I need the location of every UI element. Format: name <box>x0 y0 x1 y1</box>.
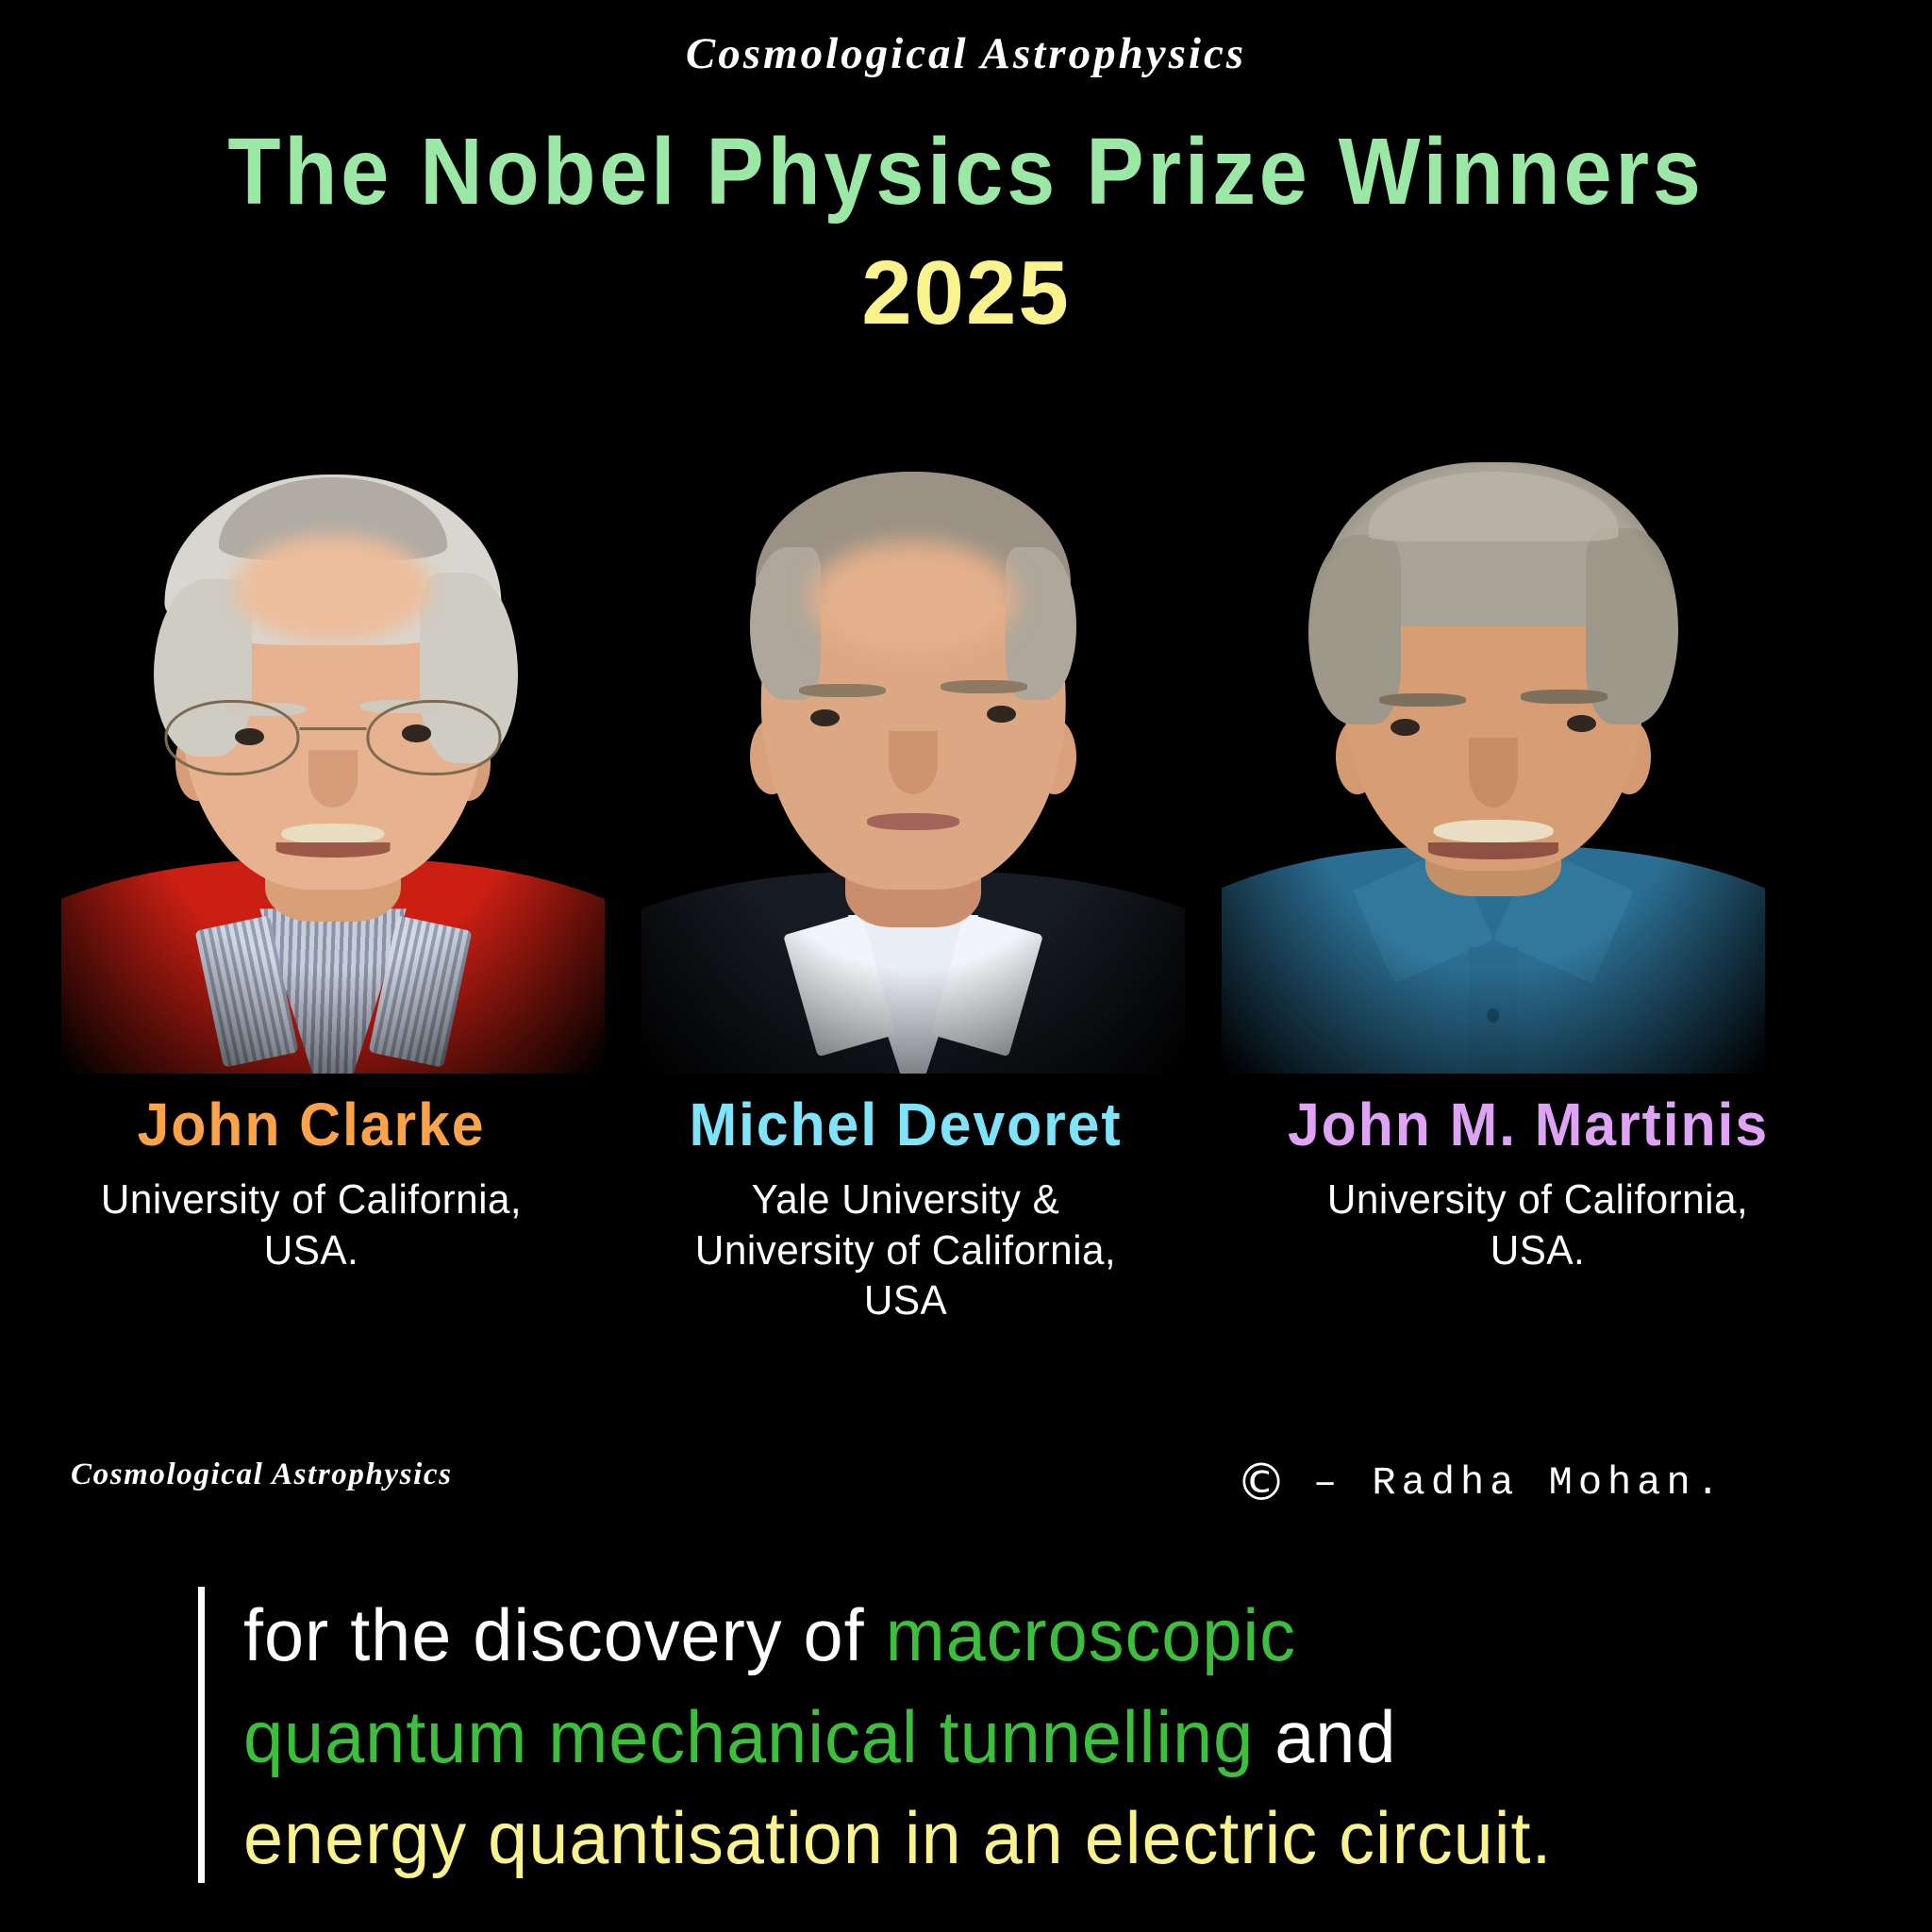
portrait-john-clarke <box>61 440 605 1074</box>
poster-canvas: Cosmological Astrophysics The Nobel Phys… <box>0 0 1932 1932</box>
citation-line-2: quantum mechanical tunnelling and <box>243 1687 1846 1789</box>
citation-line-3: energy quantisation in an electric circu… <box>243 1788 1846 1890</box>
laureate-name-0: John Clarke <box>34 1090 590 1159</box>
laureate-affiliation-0: University of California, USA. <box>22 1174 601 1275</box>
citation-line-2-plain: and <box>1254 1695 1396 1778</box>
laureate-name-1: Michel Devoret <box>628 1090 1184 1159</box>
citation-line-1: for the discovery of macroscopic <box>243 1585 1846 1687</box>
laureate-card-1 <box>641 440 1185 1074</box>
laureate-card-2 <box>1222 440 1765 1074</box>
page-title: The Nobel Physics Prize Winners <box>77 121 1855 223</box>
brand-bottom-label: Cosmological Astrophysics <box>71 1457 453 1492</box>
copyright-icon: © <box>1236 1457 1292 1508</box>
copyright-text: – Radha Mohan. <box>1313 1460 1725 1506</box>
laureate-card-0 <box>61 440 605 1074</box>
copyright-notice: © – Radha Mohan. <box>1236 1457 1725 1508</box>
brand-top-label: Cosmological Astrophysics <box>0 28 1932 79</box>
laureate-affiliation-1: Yale University & University of Californ… <box>616 1174 1195 1326</box>
citation-line-1-highlight: macroscopic <box>886 1593 1296 1676</box>
laureate-names-row: John Clarke Michel Devoret John M. Marti… <box>0 1090 1932 1163</box>
citation-accent-bar <box>198 1587 205 1883</box>
portrait-john-m-martinis <box>1222 440 1765 1074</box>
laureate-name-2: John M. Martinis <box>1215 1090 1842 1159</box>
citation-text: for the discovery of macroscopic quantum… <box>243 1585 1846 1890</box>
laureate-photo-row <box>0 440 1932 1074</box>
citation-line-2-highlight: quantum mechanical tunnelling <box>243 1695 1254 1778</box>
award-year: 2025 <box>0 243 1932 343</box>
citation-line-1-plain: for the discovery of <box>243 1593 886 1676</box>
portrait-michel-devoret <box>641 440 1185 1074</box>
citation-block: for the discovery of macroscopic quantum… <box>198 1585 1896 1890</box>
laureate-affiliation-2: University of California, USA. <box>1221 1174 1855 1275</box>
